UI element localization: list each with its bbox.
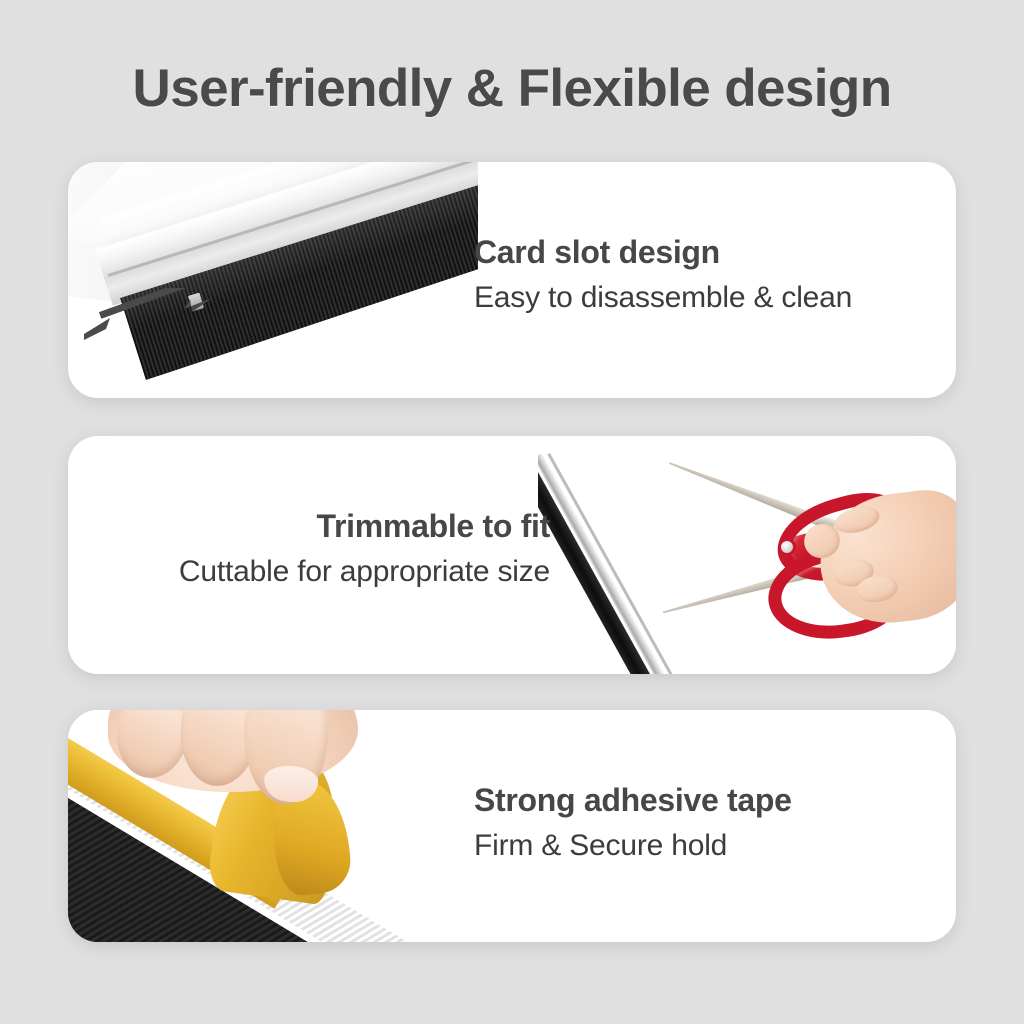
scissors-pivot-screw bbox=[778, 538, 796, 556]
feature-card-trimmable-to-fit: Trimmable to fit Cuttable for appropriat… bbox=[68, 436, 956, 674]
feature-card-strong-adhesive-tape: Strong adhesive tape Firm & Secure hold bbox=[68, 710, 956, 942]
card-2-subtitle: Cuttable for appropriate size bbox=[90, 554, 550, 590]
card-3-subtitle: Firm & Secure hold bbox=[474, 828, 792, 864]
page-title: User-friendly & Flexible design bbox=[0, 58, 1024, 119]
feature-card-card-slot-design: Card slot design Easy to disassemble & c… bbox=[68, 162, 956, 398]
card-2-illustration bbox=[538, 436, 956, 674]
card-2-title: Trimmable to fit bbox=[90, 508, 550, 545]
card-1-title: Card slot design bbox=[474, 234, 852, 271]
card-1-text-block: Card slot design Easy to disassemble & c… bbox=[474, 234, 852, 316]
card-2-text-block: Trimmable to fit Cuttable for appropriat… bbox=[90, 508, 550, 590]
double-arrow-icon bbox=[84, 288, 214, 348]
card-3-illustration bbox=[68, 710, 480, 942]
card-1-subtitle: Easy to disassemble & clean bbox=[474, 280, 852, 316]
card-3-text-block: Strong adhesive tape Firm & Secure hold bbox=[474, 782, 792, 864]
card-1-illustration bbox=[68, 162, 478, 398]
card-3-title: Strong adhesive tape bbox=[474, 782, 792, 819]
